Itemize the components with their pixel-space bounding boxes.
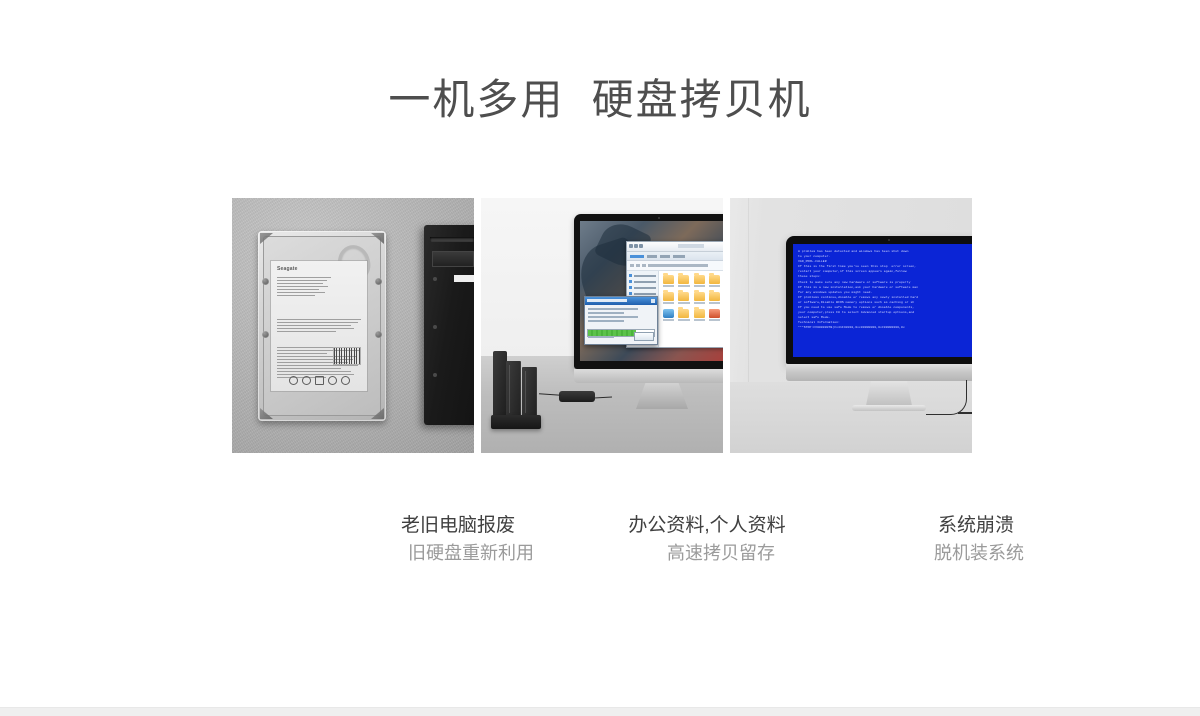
feature-image-old-pc-scrap: Seagate [232,198,474,453]
power-adapter [559,391,595,402]
explorer-quick-access-icons[interactable] [629,244,643,248]
hard-drive-screw [375,278,382,285]
enclosure-white-strip [454,275,474,282]
explorer-address-bar[interactable] [627,261,723,271]
feature-image-office-personal-data [481,198,723,453]
blue-screen-of-death: A problem has been detected and windows … [793,244,972,357]
imac-stand-neck [864,381,914,408]
enclosure-board [432,251,474,267]
nav-item[interactable] [629,286,656,289]
application-item[interactable] [662,309,675,321]
cancel-button[interactable] [634,332,654,341]
folder-icon [678,275,689,284]
folder-item[interactable] [693,309,706,321]
monitor-bezel [574,214,723,369]
folder-icon [678,309,689,318]
hard-drive-enclosure [424,225,474,425]
promo-page: 一机多用 硬盘拷贝机 Seagate [0,0,1200,715]
enclosure-slot [430,237,474,242]
explorer-file-grid[interactable] [659,271,723,348]
caption-subtitle: 脱机装系统 [858,539,1100,567]
dialog-info-line [588,312,624,314]
explorer-ribbon-tabs[interactable] [627,252,723,261]
folder-icon [694,309,705,318]
folder-item[interactable] [693,292,706,304]
folder-item[interactable] [708,292,721,304]
folder-item[interactable] [677,275,690,287]
label-barcode [333,347,361,365]
dialog-title-text [587,299,627,302]
explorer-titlebar[interactable] [627,242,723,252]
dialog-info-line [588,316,638,318]
enclosure-pin [433,325,437,329]
cert-mark [289,376,298,385]
feature-caption-old-pc-scrap: 老旧电脑报废 旧硬盘重新利用 [232,512,474,592]
hard-drive-screw [262,278,269,285]
caption-title: 办公资料,个人资料 [586,512,828,539]
close-icon[interactable] [651,299,655,303]
hard-drive-dock [491,346,541,429]
dialog-info-line [588,320,624,322]
dialog-titlebar[interactable] [585,297,657,305]
caption-subtitle: 高速拷贝留存 [600,539,842,567]
label-certification-marks [289,376,350,385]
folder-item[interactable] [693,275,706,287]
cert-mark [302,376,311,385]
folder-item[interactable] [662,292,675,304]
folder-item[interactable] [662,275,675,287]
dialog-footer [588,332,654,341]
page-title: 一机多用 硬盘拷贝机 [0,72,1200,128]
cert-mark [328,376,337,385]
media-icon [709,309,720,318]
label-spec-lines [277,277,331,298]
docked-drive [522,367,537,417]
dialog-body [585,305,657,327]
dock-back-panel [493,351,507,419]
nav-item[interactable] [629,292,656,295]
media-item[interactable] [708,309,721,321]
wall-corner-edge [748,198,749,382]
hard-drive-body: Seagate [258,231,386,421]
enclosure-pin [433,277,437,281]
webcam-icon [658,217,660,219]
hard-drive-screw [375,331,382,338]
dialog-detail-link[interactable] [588,336,614,338]
caption-title: 系统崩溃 [855,512,1097,539]
caption-subtitle: 旧硬盘重新利用 [350,539,592,567]
imac-stand-foot [852,405,926,411]
monitor-screen [580,221,723,361]
nav-item[interactable] [629,274,656,277]
copy-progress-dialog[interactable] [584,296,658,345]
explorer-window-title [678,244,704,248]
folder-icon [709,292,720,301]
power-cable [926,380,967,415]
caption-title: 老旧电脑报废 [337,512,579,539]
power-cable [958,412,972,414]
folder-item[interactable] [677,292,690,304]
nav-item[interactable] [629,280,656,283]
hard-drive-screw [262,331,269,338]
cert-mark [341,376,350,385]
dock-base [491,415,541,429]
folder-item[interactable] [677,309,690,321]
dialog-info-line [588,308,638,310]
folder-icon [694,292,705,301]
folder-icon [694,275,705,284]
folder-icon [678,292,689,301]
webcam-icon [888,239,890,241]
cert-mark [315,376,324,385]
hard-drive-label: Seagate [271,261,367,391]
feature-caption-row: 老旧电脑报废 旧硬盘重新利用 办公资料,个人资料 高速拷贝留存 系统崩溃 脱机装… [232,512,972,592]
imac-bezel: A problem has been detected and windows … [786,236,972,364]
enclosure-pin [433,373,437,377]
folder-icon [663,275,674,284]
docked-drive [506,361,521,417]
imac-chin [786,364,972,381]
folder-item[interactable] [708,275,721,287]
drive-brand-text: Seagate [277,266,298,272]
folder-icon [663,292,674,301]
app-icon [663,309,674,318]
feature-image-system-crash: A problem has been detected and windows … [730,198,972,453]
monitor-chin [574,369,723,383]
folder-icon [709,275,720,284]
feature-image-row: Seagate [232,198,972,453]
label-support-lines [277,319,361,334]
